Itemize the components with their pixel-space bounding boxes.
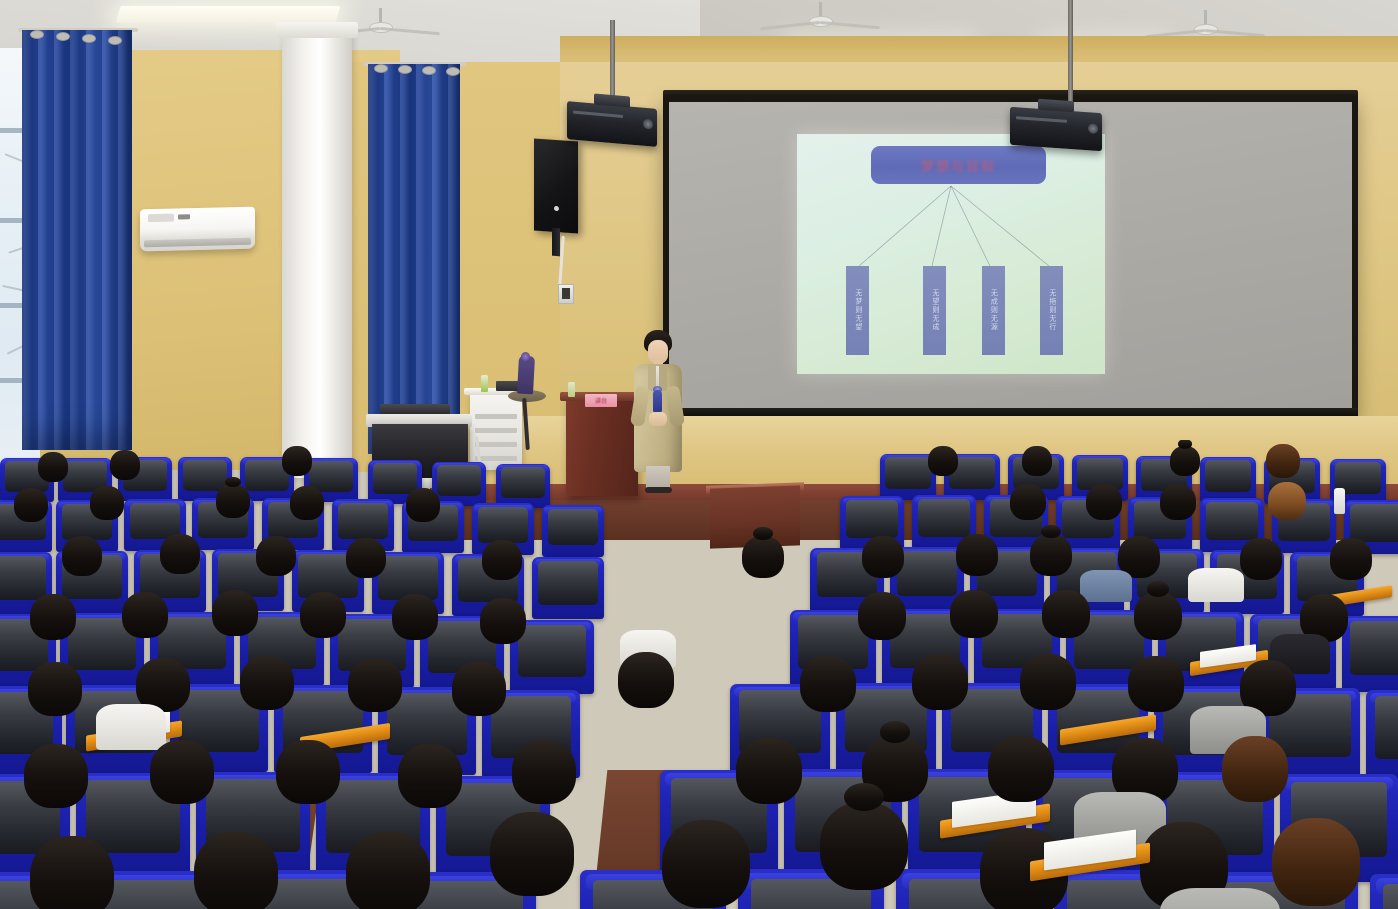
slide-branch-box-2: 无望则无成: [923, 266, 946, 355]
audience-head: [110, 450, 140, 480]
audience-head: [90, 486, 124, 520]
audience-shoulders: [1188, 568, 1244, 602]
curtain-right[interactable]: [368, 64, 460, 454]
audience-head: [62, 536, 102, 576]
seat[interactable]: [432, 462, 486, 506]
audience-head: [346, 538, 386, 578]
slide-branch-text-3: 无成则无源: [988, 289, 998, 332]
projector-pole-right: [1068, 0, 1073, 105]
ac-led-indicator: [178, 214, 190, 219]
speaker-mount-stem: [552, 228, 560, 257]
audience-head: [1266, 444, 1300, 478]
audience-head: [862, 536, 904, 578]
audience-head: [956, 534, 998, 576]
ceiling-fan-center: [760, 2, 880, 28]
audience-head: [1268, 482, 1306, 520]
audience-shoulders: [1080, 570, 1132, 602]
slide-branch-box-3: 无成则无源: [982, 266, 1005, 355]
seat[interactable]: [542, 505, 604, 557]
audience-head: [1020, 654, 1076, 710]
audience-head: [406, 488, 440, 522]
seat[interactable]: [532, 557, 604, 619]
audience-head: [912, 654, 968, 710]
audience-head: [160, 534, 200, 574]
fluorescent-light-1: [116, 6, 341, 23]
lecture-hall-scene: 梦想与目标 无梦则无望 无望则无成 无成则无源 无拖则无行: [0, 0, 1398, 909]
audience-head: [490, 812, 574, 896]
lectern-water-bottle: [481, 375, 488, 392]
audience-head: [14, 488, 48, 522]
slide-title-text: 梦想与目标: [921, 156, 996, 175]
audience-head: [800, 656, 856, 712]
wall-air-conditioner: [140, 207, 255, 252]
audience-head: [1240, 538, 1282, 580]
audience-head: [212, 590, 258, 636]
presenter-hands: [649, 412, 667, 426]
ceiling-projector-left: [567, 101, 657, 147]
structural-column: [282, 28, 352, 478]
audience-water-bottle: [1334, 488, 1345, 514]
microphone-on-stand[interactable]: [517, 356, 535, 395]
audience-head: [194, 832, 278, 909]
audience-head: [290, 486, 324, 520]
slide-title-box: 梦想与目标: [871, 146, 1047, 184]
audience-head: [1086, 484, 1122, 520]
audience-head: [1170, 446, 1200, 476]
audience-head: [1030, 534, 1072, 576]
audience-head: [482, 540, 522, 580]
audience-head: [1042, 590, 1090, 638]
audience-seating: [0, 440, 1398, 909]
slide-branch-text-1: 无梦则无望: [853, 289, 863, 332]
audience-head: [24, 744, 88, 808]
curtain-left[interactable]: [22, 30, 132, 450]
wall-outlet-plate[interactable]: [558, 284, 574, 304]
audience-head: [736, 738, 802, 804]
podium-name-card: 讲台: [585, 394, 617, 407]
audience-head: [28, 662, 82, 716]
seat[interactable]: [1342, 616, 1398, 692]
audience-head: [240, 656, 294, 710]
speaker-driver: [554, 206, 559, 211]
audience-head: [480, 598, 526, 644]
audience-head: [282, 446, 312, 476]
audience-head: [216, 484, 250, 518]
audience-head: [1134, 592, 1182, 640]
ceiling-projector-right: [1010, 107, 1102, 151]
audience-head: [820, 802, 908, 890]
audience-head: [1022, 446, 1052, 476]
audience-head: [150, 740, 214, 804]
audience-head: [346, 832, 430, 909]
audience-head: [30, 594, 76, 640]
projected-slide: 梦想与目标 无梦则无望 无望则无成 无成则无源 无拖则无行: [797, 134, 1105, 374]
audience-head: [928, 446, 958, 476]
audience-head: [858, 592, 906, 640]
audience-head: [38, 452, 68, 482]
audience-head: [276, 740, 340, 804]
projection-screen-surface: 梦想与目标 无梦则无望 无望则无成 无成则无源 无拖则无行: [669, 102, 1352, 408]
ac-vent: [144, 238, 251, 248]
audience-head: [256, 536, 296, 576]
audience-head: [988, 736, 1054, 802]
audience-head: [1010, 484, 1046, 520]
slide-branch-box-4: 无拖则无行: [1040, 266, 1063, 355]
slide-branch-text-4: 无拖则无行: [1047, 289, 1057, 332]
audience-head: [618, 652, 674, 708]
audience-head: [512, 740, 576, 804]
audience-head: [950, 590, 998, 638]
seat[interactable]: [496, 464, 550, 508]
slide-branch-text-2: 无望则无成: [930, 289, 940, 332]
microphone-head-icon: [521, 352, 530, 361]
audience-head: [398, 744, 462, 808]
podium-water-bottle: [568, 382, 575, 397]
audience-head: [742, 536, 784, 578]
wall-upper-band: [560, 36, 1398, 62]
seat[interactable]: [1366, 690, 1398, 780]
audience-head: [1128, 656, 1184, 712]
audience-head: [662, 820, 750, 908]
audience-shoulders: [96, 704, 166, 750]
ceiling-fan-right: [1140, 10, 1270, 38]
audience-head: [300, 592, 346, 638]
audience-head: [452, 662, 506, 716]
audience-head: [122, 592, 168, 638]
wall-speaker: [534, 138, 578, 233]
ac-display-panel: [148, 214, 174, 223]
audience-head: [30, 836, 114, 909]
slide-branch-box-1: 无梦则无望: [846, 266, 869, 355]
audience-shoulders: [1160, 888, 1280, 909]
audience-head: [1272, 818, 1360, 906]
audience-head: [348, 658, 402, 712]
audience-head: [392, 594, 438, 640]
handheld-microphone: [653, 390, 662, 414]
audience-head: [1160, 484, 1196, 520]
seat[interactable]: [1370, 874, 1398, 909]
audience-head: [1222, 736, 1288, 802]
seat[interactable]: [1200, 457, 1256, 503]
column-capital: [276, 22, 358, 38]
audience-head: [1330, 538, 1372, 580]
podium-sign-text: 讲台: [595, 396, 607, 405]
